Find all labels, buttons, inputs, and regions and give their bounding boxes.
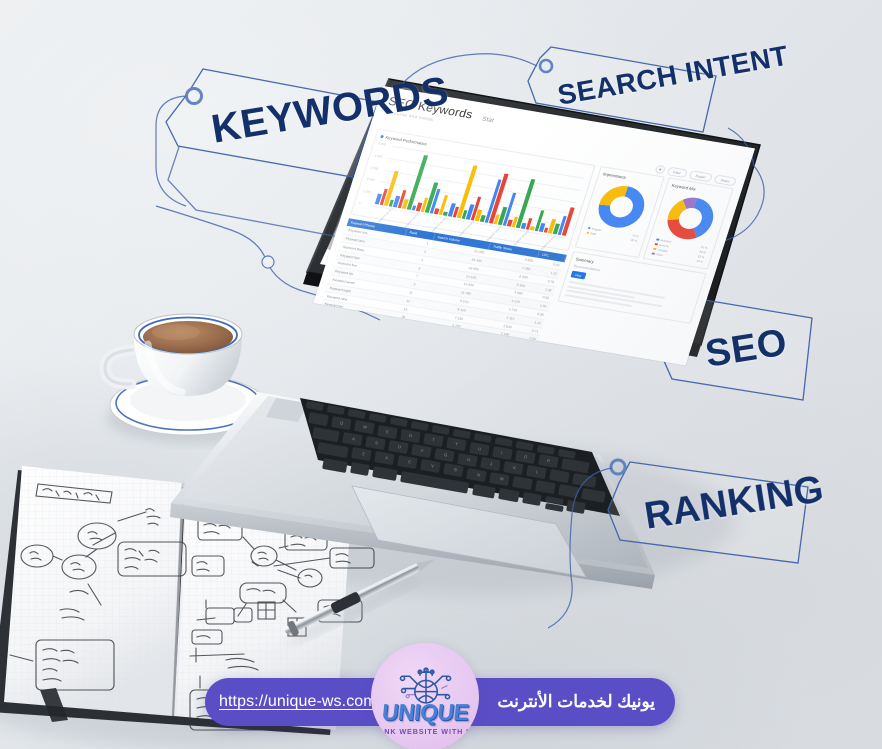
logo-wordmark: UNIQUE: [380, 699, 469, 726]
impressions-legend-values: 74 %26 %: [630, 233, 639, 242]
legend-value: 26 %: [630, 238, 638, 243]
keywordmix-legend-labels: BrandedGenericLongtailOther: [652, 238, 672, 258]
legend-swatch: [652, 252, 655, 255]
chart-x-tick: Keyword group 1: [377, 207, 394, 223]
chart-x-tick: Keyword group 2: [404, 211, 421, 227]
chart-x-tick: Keyword group 4: [459, 221, 476, 237]
donut-right-svg: [660, 193, 720, 244]
legend-label: Paid: [590, 231, 597, 236]
chart-y-tick: 4 000: [374, 153, 383, 158]
legend-swatch: [655, 243, 658, 246]
legend-swatch: [653, 248, 656, 251]
gear-icon[interactable]: [654, 164, 666, 174]
toolbar-button-filter[interactable]: Filter: [666, 167, 688, 179]
chart-x-tick: Keyword group 3: [432, 216, 449, 232]
chart-x-tick: Keyword group 5: [486, 225, 503, 241]
chart-x-tick: Keyword group 7: [540, 234, 557, 250]
chart-y-tick: 2 000: [366, 177, 375, 182]
banner-arabic-text: يونيك لخدمات الأنترنت: [497, 692, 655, 712]
chart-y-tick: 1 000: [362, 189, 371, 194]
chart-bar: [516, 179, 535, 228]
impressions-legend-labels: OrganicPaid: [586, 226, 602, 237]
legend-value: 10 %: [696, 259, 704, 264]
keywordmix-legend-values: 41 %30 %19 %10 %: [696, 245, 708, 264]
chart-x-tick: Keyword group 6: [513, 230, 530, 246]
summary-placeholder-lines: [564, 281, 692, 316]
status-dot-icon: [380, 135, 384, 138]
legend-swatch: [656, 238, 659, 241]
legend-swatch: [588, 227, 591, 230]
dashboard-title-sub: Stat: [481, 117, 494, 125]
logo-tagline: RANK WEBSITE WITH US: [372, 727, 478, 736]
website-url-link[interactable]: https://unique-ws.com: [219, 693, 377, 711]
scene-canvas: Q W E R T Y U I O P A S D F G H J K L Z: [0, 0, 882, 749]
chart-y-tick: 3 000: [370, 165, 379, 170]
company-logo-badge[interactable]: UNIQUE RANK WEBSITE WITH US: [371, 643, 479, 749]
chart-y-tick: 0: [359, 201, 362, 205]
placeholder-line: [566, 289, 663, 307]
summary-view-button[interactable]: View: [570, 271, 587, 280]
legend-swatch: [586, 231, 589, 234]
legend-label: Other: [656, 252, 664, 257]
chart-y-tick: 5 000: [378, 141, 387, 146]
donut-left-svg: [591, 181, 651, 232]
